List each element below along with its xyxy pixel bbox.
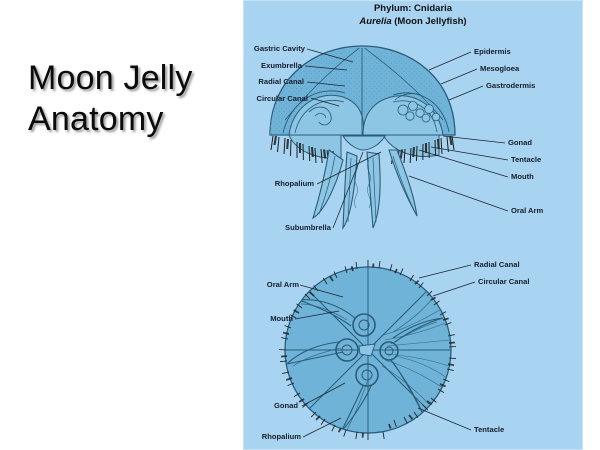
label-tentacle: Tentacle: [511, 156, 541, 164]
label-oral-arm-2: Oral Arm: [247, 281, 299, 289]
figure-lateral-section: [270, 46, 455, 228]
label-subumbrella: Subumbrella: [261, 224, 331, 232]
label-epidermis: Epidermis: [474, 48, 511, 56]
label-gastric-cavity: Gastric Cavity: [247, 45, 305, 53]
page-title: Moon Jelly Anatomy: [28, 58, 233, 141]
label-circular-canal-2: Circular Canal: [478, 278, 530, 286]
jellyfish-diagram-image: Phylum: Cnidaria Aurelia (Moon Jellyfish…: [243, 0, 583, 450]
label-rhopalium-2: Rhopalium: [247, 433, 301, 441]
label-oral-arm: Oral Arm: [511, 207, 543, 215]
page-title-line-1: Moon Jelly: [28, 58, 233, 99]
slide-canvas: Moon Jelly Anatomy Phylum: Cnidaria Aure…: [0, 0, 600, 450]
page-title-line-2: Anatomy: [28, 99, 233, 140]
label-gonad-2: Gonad: [247, 402, 298, 410]
label-circular-canal: Circular Canal: [245, 95, 308, 103]
label-mouth-2: Mouth: [247, 315, 293, 323]
label-radial-canal-2: Radial Canal: [474, 261, 520, 269]
label-gastrodermis: Gastrodermis: [486, 82, 535, 90]
label-tentacle-2: Tentacle: [474, 426, 504, 434]
label-mesogloea: Mesogloea: [480, 65, 519, 73]
label-exumbrella: Exumbrella: [247, 62, 302, 70]
label-radial-canal: Radial Canal: [247, 78, 304, 86]
label-rhopalium: Rhopalium: [247, 180, 314, 188]
label-gonad: Gonad: [508, 139, 532, 147]
label-mouth: Mouth: [511, 173, 534, 181]
